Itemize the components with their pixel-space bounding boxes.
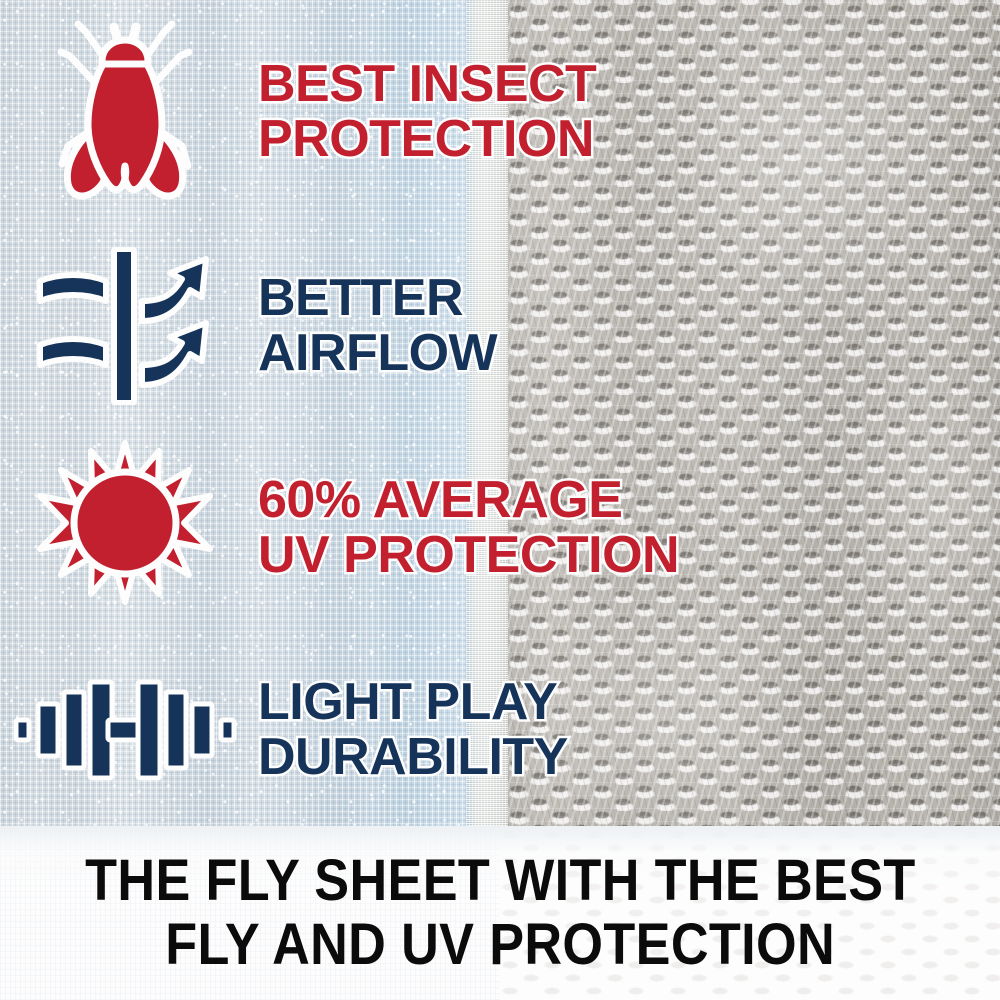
fly-icon-wrap xyxy=(0,16,250,208)
feature-row-durability: LIGHT PLAY DURABILITY xyxy=(0,650,1000,810)
feature-row-airflow: BETTER AIRFLOW xyxy=(0,238,1000,413)
airflow-label: BETTER AIRFLOW xyxy=(250,271,1000,381)
caption-line-2: FLY AND UV PROTECTION xyxy=(165,913,835,977)
dumbbell-icon xyxy=(12,678,238,782)
durability-line-2: DURABILITY xyxy=(258,730,1000,785)
sun-icon xyxy=(36,439,214,617)
caption-panel: THE FLY SHEET WITH THE BEST FLY AND UV P… xyxy=(0,826,1000,1000)
airflow-line-1: BETTER xyxy=(258,271,1000,326)
dumbbell-icon-wrap xyxy=(0,678,250,782)
sun-icon-wrap xyxy=(0,439,250,617)
airflow-icon-wrap xyxy=(0,247,250,405)
fly-icon xyxy=(50,16,200,208)
product-feature-graphic: BEST INSECT PROTECTION xyxy=(0,0,1000,1000)
uv-line-2: UV PROTECTION xyxy=(258,528,1000,583)
insect-protection-label: BEST INSECT PROTECTION xyxy=(250,57,1000,167)
uv-line-1: 60% AVERAGE xyxy=(258,473,1000,528)
airflow-line-2: AIRFLOW xyxy=(258,326,1000,381)
feature-row-uv-protection: 60% AVERAGE UV PROTECTION xyxy=(0,435,1000,620)
caption-text-block: THE FLY SHEET WITH THE BEST FLY AND UV P… xyxy=(0,826,1000,1000)
caption-line-1: THE FLY SHEET WITH THE BEST xyxy=(85,849,916,913)
feature-row-insect-protection: BEST INSECT PROTECTION xyxy=(0,12,1000,212)
durability-label: LIGHT PLAY DURABILITY xyxy=(250,675,1000,785)
insect-line-2: PROTECTION xyxy=(258,112,1000,167)
feature-list: BEST INSECT PROTECTION xyxy=(0,0,1000,826)
durability-line-1: LIGHT PLAY xyxy=(258,675,1000,730)
airflow-icon xyxy=(30,247,220,405)
insect-line-1: BEST INSECT xyxy=(258,57,1000,112)
uv-protection-label: 60% AVERAGE UV PROTECTION xyxy=(250,473,1000,583)
